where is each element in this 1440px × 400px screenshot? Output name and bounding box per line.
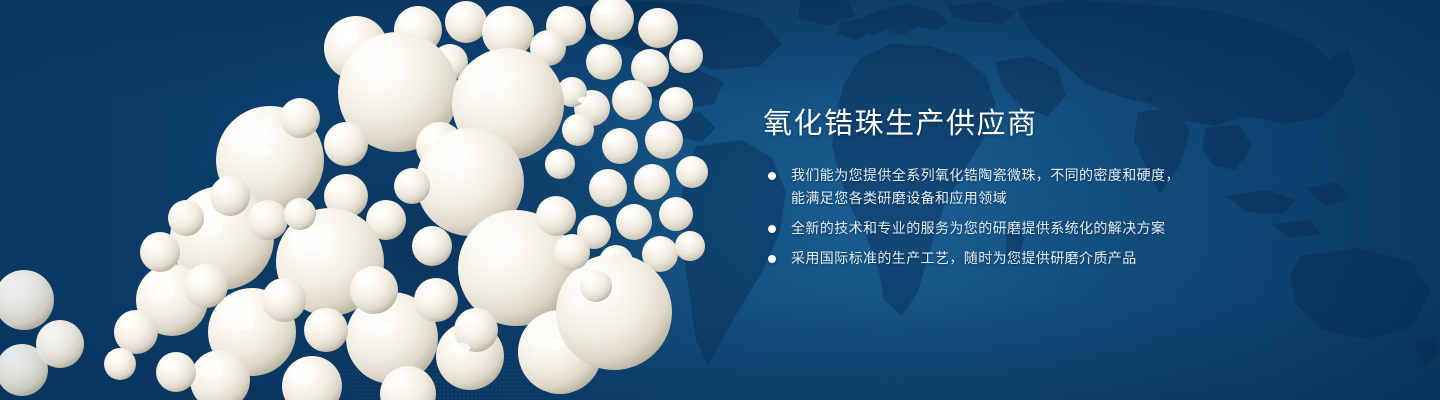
list-item-line2: 能满足您各类研磨设备和应用领域 bbox=[791, 187, 1403, 210]
list-item: 全新的技术和专业的服务为您的研磨提供系统化的解决方案 bbox=[763, 217, 1403, 240]
list-item: 我们能为您提供全系列氧化锆陶瓷微珠，不同的密度和硬度， 能满足您各类研磨设备和应… bbox=[763, 164, 1403, 210]
hero-banner: 氧化锆珠生产供应商 我们能为您提供全系列氧化锆陶瓷微珠，不同的密度和硬度， 能满… bbox=[0, 0, 1440, 400]
list-item-line1: 我们能为您提供全系列氧化锆陶瓷微珠，不同的密度和硬度， bbox=[791, 167, 1180, 183]
feature-list: 我们能为您提供全系列氧化锆陶瓷微珠，不同的密度和硬度， 能满足您各类研磨设备和应… bbox=[763, 164, 1403, 270]
list-item-line1: 全新的技术和专业的服务为您的研磨提供系统化的解决方案 bbox=[791, 220, 1165, 236]
list-item: 采用国际标准的生产工艺，随时为您提供研磨介质产品 bbox=[763, 247, 1403, 270]
bullet-dot-icon bbox=[768, 172, 776, 180]
bullet-dot-icon bbox=[768, 255, 776, 263]
list-item-line1: 采用国际标准的生产工艺，随时为您提供研磨介质产品 bbox=[791, 250, 1137, 266]
banner-copy: 氧化锆珠生产供应商 我们能为您提供全系列氧化锆陶瓷微珠，不同的密度和硬度， 能满… bbox=[763, 106, 1403, 277]
bullet-dot-icon bbox=[768, 225, 776, 233]
page-title: 氧化锆珠生产供应商 bbox=[763, 106, 1403, 142]
